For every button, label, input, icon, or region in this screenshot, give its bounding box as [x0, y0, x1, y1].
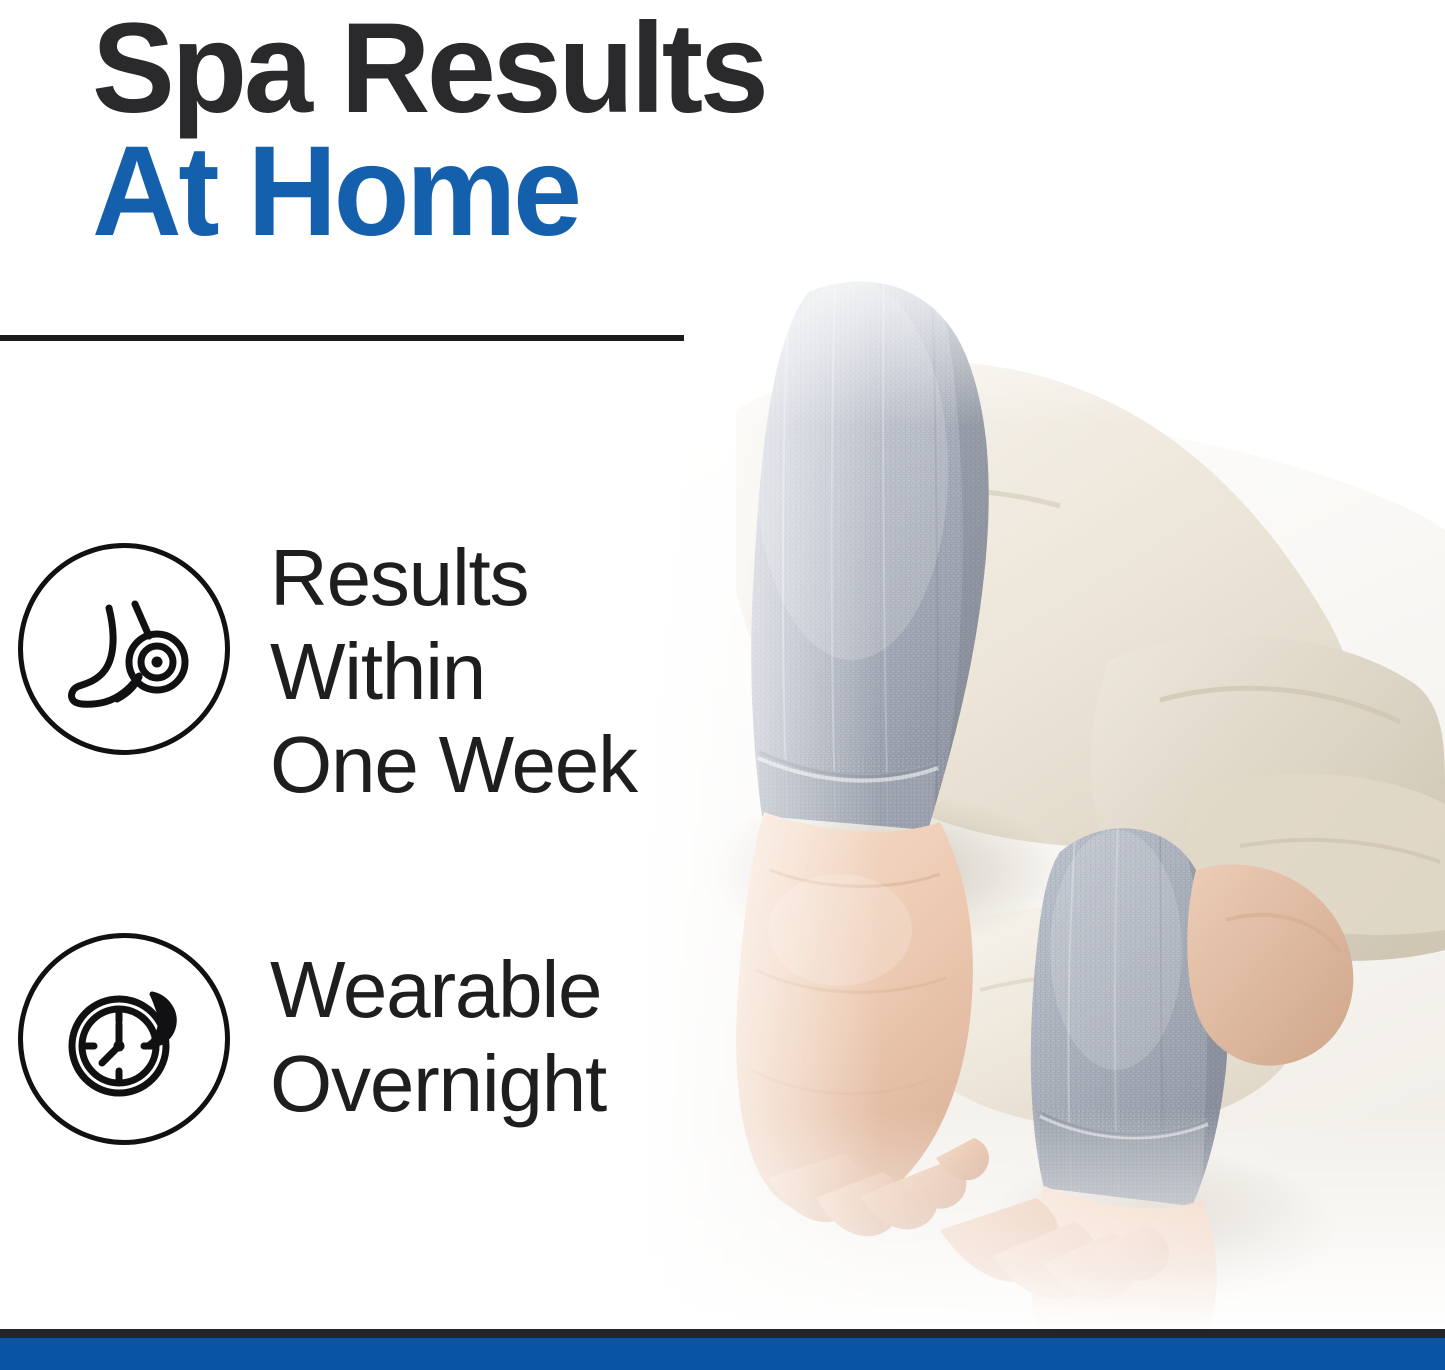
toe — [768, 1154, 861, 1222]
photo-top-fade — [640, 230, 1445, 1330]
foot-heel-target-icon — [18, 543, 230, 755]
clock-moon-overnight-icon — [18, 933, 230, 1145]
feature-item-overnight: Wearable Overnight — [18, 933, 606, 1145]
headline-line-accent: At Home — [92, 131, 965, 254]
pillow-right — [1091, 636, 1445, 961]
sock-cuff-edge — [1042, 1114, 1206, 1135]
bedding-crease — [980, 975, 1250, 1006]
footer-dark-bar — [0, 1329, 1445, 1338]
pillow-back — [736, 361, 1356, 847]
gel-sock-right — [1020, 810, 1250, 1230]
gel-sock-left — [740, 260, 1010, 860]
bare-foot-right — [1031, 1186, 1217, 1330]
feature-label-results: Results Within One Week — [270, 531, 637, 812]
contact-shadow — [980, 1150, 1340, 1310]
footer-blue-bar — [0, 1338, 1445, 1370]
bed-sheet — [640, 415, 1445, 1330]
toe — [900, 1160, 966, 1209]
sock-cuff-edge — [760, 752, 938, 777]
ankle-crease — [1226, 915, 1340, 952]
headline: Spa Results At Home — [92, 8, 992, 254]
bedding-crease — [1240, 840, 1440, 862]
right-foot-toes — [940, 1198, 1169, 1299]
photo-left-fade — [640, 230, 1445, 1330]
ankle-right — [1187, 864, 1353, 1065]
toe — [816, 1172, 901, 1236]
contact-shadow — [700, 790, 1060, 950]
feature-item-results: Results Within One Week — [18, 543, 637, 812]
product-feature-banner: Spa Results At Home Results Within One W… — [0, 0, 1445, 1370]
bedding-crease — [1160, 688, 1400, 722]
ankle-back — [757, 501, 910, 700]
product-lifestyle-photo — [640, 230, 1445, 1330]
bare-foot-left — [736, 812, 989, 1236]
toe — [936, 1138, 989, 1180]
header-divider-rule — [0, 335, 684, 341]
bedding-crease — [760, 490, 1060, 530]
pillow-fold — [1187, 774, 1445, 935]
pillow-front — [904, 905, 1299, 1128]
photo-illustration — [640, 230, 1445, 1330]
foreground-foot — [736, 930, 1005, 1330]
foot-toes-cluster — [920, 1086, 1175, 1287]
feature-label-overnight: Wearable Overnight — [270, 943, 606, 1130]
toe — [860, 1172, 938, 1230]
headline-line-primary: Spa Results — [92, 8, 965, 131]
photo-bottom-fade — [640, 230, 1445, 1330]
